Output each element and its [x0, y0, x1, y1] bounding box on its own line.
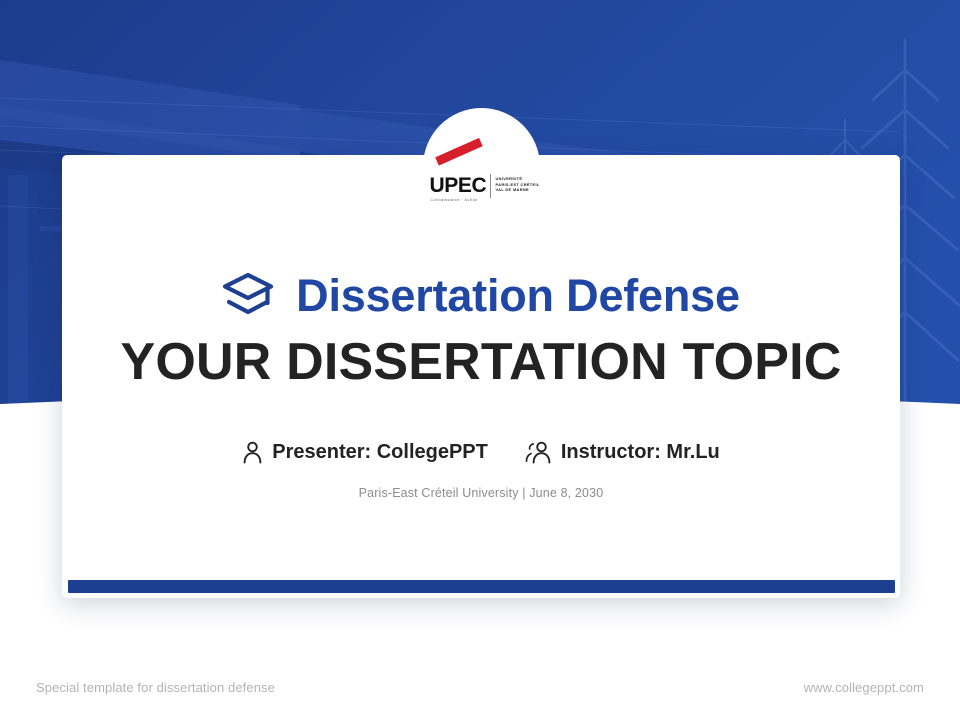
person-icon [242, 441, 263, 464]
people-row: Presenter: CollegePPT Instructor: Mr.Lu [242, 441, 720, 464]
instructor-label: Instructor: Mr.Lu [561, 441, 720, 464]
presenter-block: Presenter: CollegePPT [242, 441, 488, 464]
instructor-block: Instructor: Mr.Lu [525, 441, 720, 464]
footer-note: Special template for dissertation defens… [36, 680, 275, 695]
page-title: Dissertation Defense [296, 273, 740, 318]
card-content: Dissertation Defense YOUR DISSERTATION T… [62, 155, 900, 598]
venue-date: Paris-East Créteil University | June 8, … [359, 486, 604, 500]
people-icon [525, 441, 552, 464]
slide-canvas: UPEC Connaissance · Action UNIVERSITÉ PA… [0, 0, 960, 720]
title-row: Dissertation Defense [222, 272, 740, 318]
graduation-cap-icon [222, 272, 274, 318]
footer-website[interactable]: www.collegeppt.com [804, 680, 924, 695]
page-subtitle: YOUR DISSERTATION TOPIC [120, 335, 841, 390]
presenter-label: Presenter: CollegePPT [272, 441, 488, 464]
